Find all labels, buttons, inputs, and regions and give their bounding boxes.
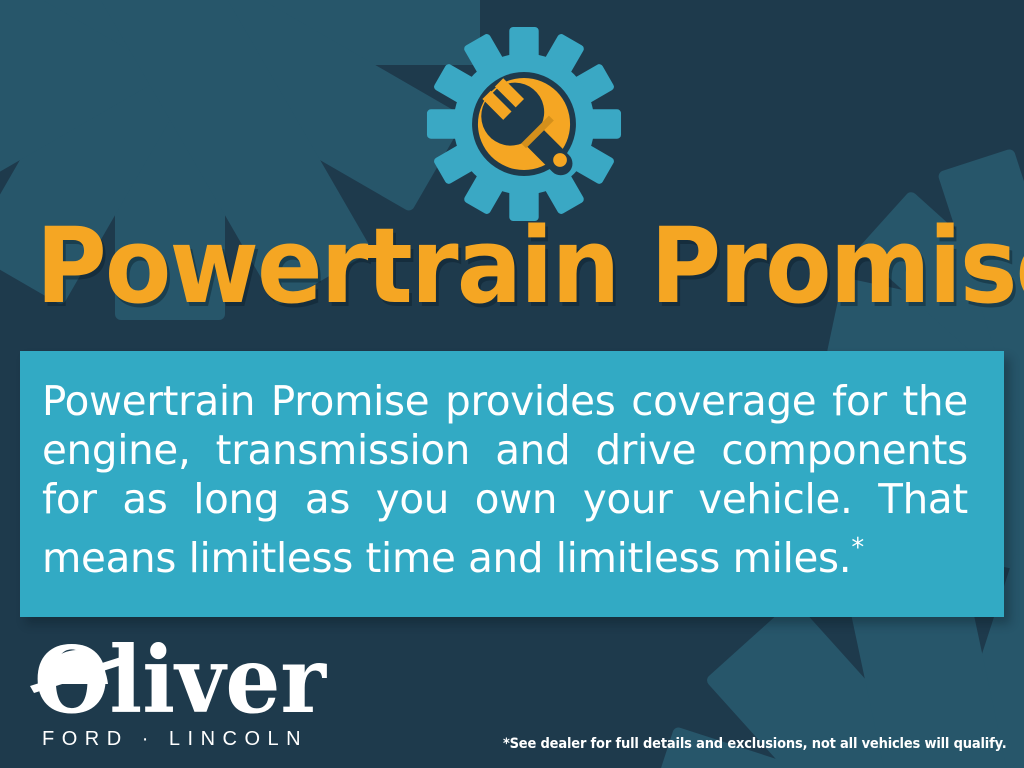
gear-core — [0, 0, 380, 220]
gear-core — [750, 665, 1024, 768]
gear-wrench-icon — [426, 26, 622, 222]
disclaimer-text: *See dealer for full details and exclusi… — [502, 736, 1006, 752]
body-copy-text: Powertrain Promise provides coverage for… — [42, 377, 968, 583]
logo-wordmark: Oliver — [28, 636, 328, 728]
logo-subline: FORD · LINCOLN — [42, 728, 308, 751]
page-title: Powertrain Promise — [36, 214, 988, 318]
oliver-ford-lincoln-logo: Oliver FORD · LINCOLN — [28, 640, 328, 758]
body-copy-panel: Powertrain Promise provides coverage for… — [20, 351, 1004, 617]
powertrain-promise-poster: Powertrain Promise Powertrain Promise pr… — [0, 0, 1024, 768]
body-copy-asterisk: * — [851, 533, 864, 563]
